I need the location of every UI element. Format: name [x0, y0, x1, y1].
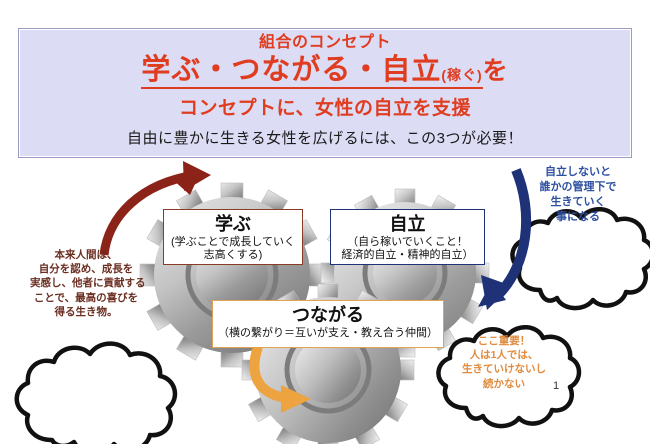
- header-main-title: 学ぶ・つながる・自立(稼ぐ)を: [19, 55, 631, 85]
- header-main-title-annotation: (稼ぐ): [441, 67, 482, 83]
- header-description: 自由に豊かに生きる女性を広げるには、この3つが必要！: [19, 131, 631, 147]
- cloud-left-line-2: 自分を認め、成長を: [30, 262, 142, 276]
- cloud-bottom-right-line-3: 生きていけないし: [452, 362, 556, 376]
- concept-subtitle-tsunagaru: （横の繋がり＝互いが支え・教え合う仲間）: [213, 327, 443, 341]
- concept-subtitle-manabu: (学ぶことで成長していく 志高くする): [164, 236, 302, 264]
- cloud-callout-left: 本来人間は、 自分を認め、成長を 実感し、他者に貢献する ことで、最高の喜びを …: [30, 248, 142, 319]
- cloud-top-right-line-1: 自立しないと: [522, 165, 634, 180]
- cloud-top-right-line-4: 事になる: [522, 210, 634, 225]
- concept-title-tsunagaru: つながる: [213, 305, 443, 326]
- header-main-title-text: 学ぶ・つながる・自立: [141, 54, 441, 86]
- concept-subtitle-manabu-line1: (学ぶことで成長していく: [164, 236, 302, 250]
- cloud-bottom-right-line-2: 人は1人では、: [452, 348, 556, 362]
- concept-box-jiritsu[interactable]: 自立 （自ら稼いでいくこと！ 経済的自立・精神的自立）: [330, 209, 485, 265]
- cloud-left-line-4: ことで、最高の喜びを: [30, 291, 142, 305]
- header-subtitle-second: コンセプトに、女性の自立を支援: [19, 99, 631, 119]
- cloud-bottom-right-line-1: ここ重要！: [452, 334, 556, 348]
- cloud-top-right-line-3: 生きていく: [522, 195, 634, 210]
- cloud-top-right-line-2: 誰かの管理下で: [522, 180, 634, 195]
- header-main-title-underlined: 学ぶ・つながる・自立(稼ぐ): [141, 54, 482, 89]
- concept-header-banner: 組合のコンセプト 学ぶ・つながる・自立(稼ぐ)を コンセプトに、女性の自立を支援…: [18, 28, 632, 158]
- concept-subtitle-jiritsu-line1: （自ら稼いでいくこと！: [331, 236, 484, 250]
- header-subtitle-top: 組合のコンセプト: [19, 35, 631, 52]
- concept-box-manabu[interactable]: 学ぶ (学ぶことで成長していく 志高くする): [163, 209, 303, 265]
- cloud-callout-top-right: 自立しないと 誰かの管理下で 生きていく 事になる: [522, 165, 634, 224]
- cloud-bottom-right-line-4: 続かない: [452, 377, 556, 391]
- header-main-title-particle: を: [483, 57, 509, 85]
- cloud-shape-left: [17, 344, 175, 444]
- concept-title-manabu: 学ぶ: [164, 214, 302, 235]
- concept-box-tsunagaru[interactable]: つながる （横の繋がり＝互いが支え・教え合う仲間）: [212, 300, 444, 348]
- concept-subtitle-jiritsu: （自ら稼いでいくこと！ 経済的自立・精神的自立）: [331, 236, 484, 264]
- cloud-callout-bottom-right: ここ重要！ 人は1人では、 生きていけないし 続かない: [452, 334, 556, 391]
- concept-subtitle-manabu-line2: 志高くする): [164, 249, 302, 263]
- concept-title-jiritsu: 自立: [331, 214, 484, 235]
- cloud-left-line-3: 実感し、他者に貢献する: [30, 276, 142, 290]
- cloud-left-line-1: 本来人間は、: [30, 248, 142, 262]
- concept-subtitle-tsunagaru-line1: （横の繋がり＝互いが支え・教え合う仲間）: [213, 327, 443, 341]
- concept-subtitle-jiritsu-line2: 経済的自立・精神的自立）: [331, 249, 484, 263]
- cloud-left-line-5: 得る生き物。: [30, 305, 142, 319]
